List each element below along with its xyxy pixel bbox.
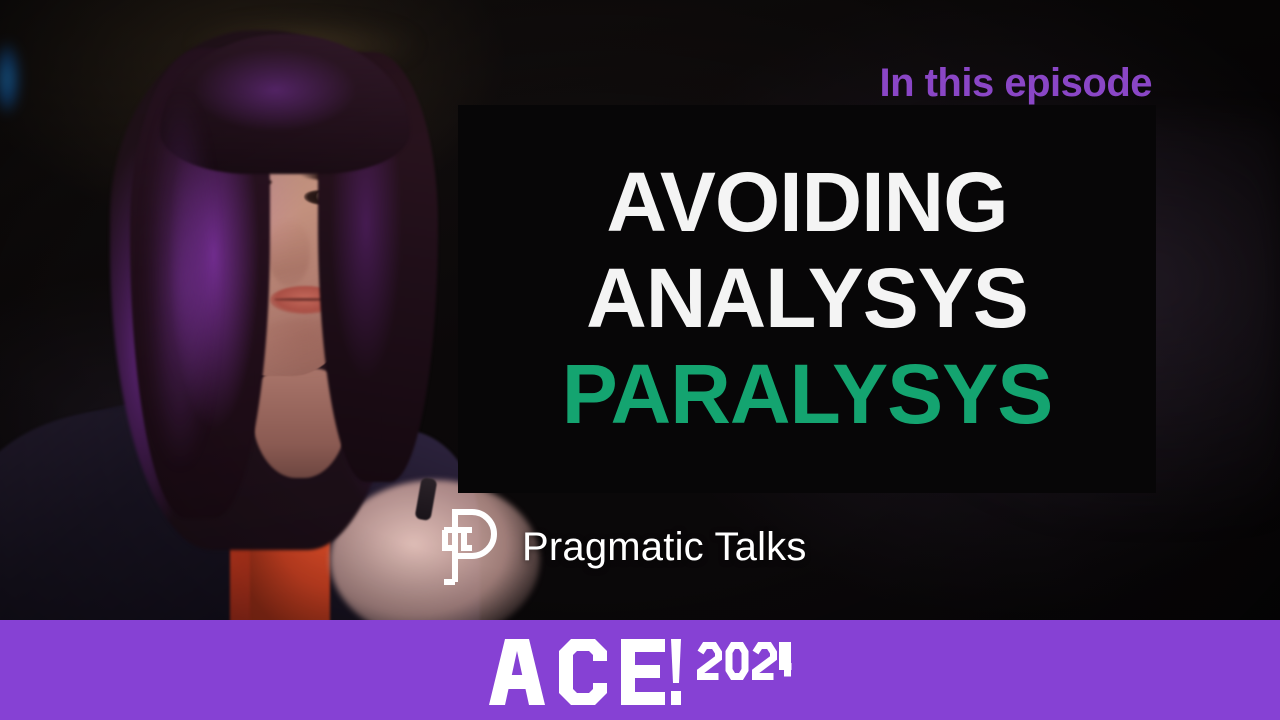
pragmatic-talks-pt-monogram-icon [438, 508, 500, 586]
video-thumbnail: In this episode AVOIDING ANALYSYS PARALY… [0, 0, 1280, 720]
speaker-nose [268, 222, 310, 286]
brand-lockup: Pragmatic Talks [438, 508, 807, 586]
event-footer-bar [0, 620, 1280, 720]
speaker-portrait [0, 0, 460, 625]
event-year [695, 639, 795, 681]
title-line-3: PARALYSYS [562, 347, 1053, 443]
event-logo-lockup [485, 639, 795, 705]
title-line-2: ANALYSYS [586, 251, 1028, 347]
ace-wordmark [485, 639, 681, 705]
title-card: AVOIDING ANALYSYS PARALYSYS [458, 105, 1156, 493]
title-line-1: AVOIDING [606, 155, 1007, 251]
brand-name: Pragmatic Talks [522, 527, 807, 567]
episode-kicker: In this episode [879, 63, 1152, 103]
purple-rim-light [96, 20, 216, 540]
